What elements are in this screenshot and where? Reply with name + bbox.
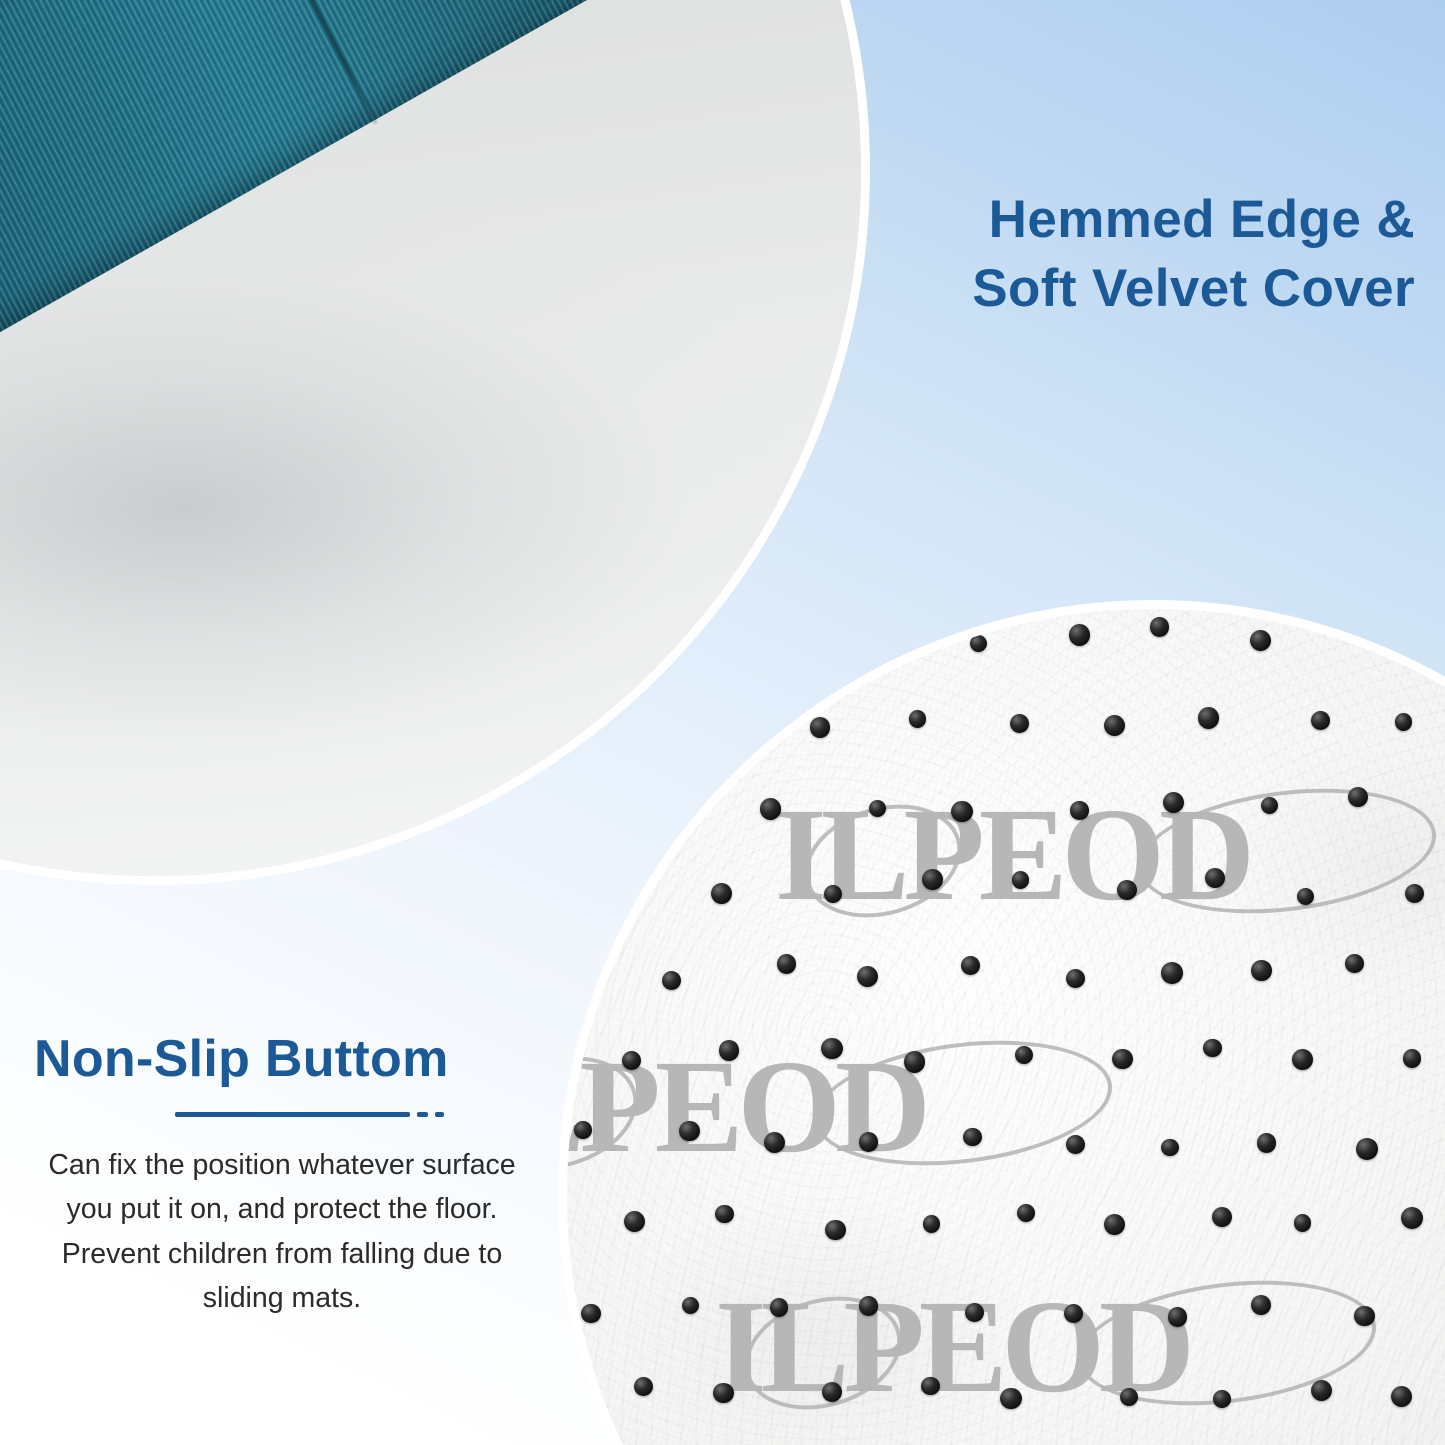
anti-slip-dot xyxy=(1345,954,1364,973)
anti-slip-dot xyxy=(1117,880,1137,900)
anti-slip-dot xyxy=(1168,1307,1187,1326)
divider-dash xyxy=(435,1112,444,1117)
anti-slip-dot xyxy=(581,1304,600,1323)
anti-slip-dot xyxy=(682,1297,699,1314)
anti-slip-dot xyxy=(1205,868,1225,888)
anti-slip-dot xyxy=(1250,630,1271,651)
anti-slip-dot xyxy=(760,798,781,819)
anti-slip-dot xyxy=(951,801,972,822)
anti-slip-dot xyxy=(1311,711,1330,730)
anti-slip-dot xyxy=(1161,962,1183,984)
anti-slip-dot xyxy=(1311,1380,1332,1401)
anti-slip-dot xyxy=(1070,801,1088,819)
anti-slip-dot xyxy=(859,1296,879,1316)
anti-slip-dot-grid xyxy=(567,609,1445,1445)
anti-slip-dot xyxy=(764,1132,785,1153)
anti-slip-dot xyxy=(810,717,831,738)
anti-slip-dot xyxy=(719,1040,740,1061)
anti-slip-dot xyxy=(1212,1207,1232,1227)
anti-slip-dot xyxy=(1395,713,1413,731)
anti-slip-dot xyxy=(1401,1207,1423,1229)
anti-slip-dot xyxy=(922,869,943,890)
anti-slip-dot xyxy=(921,1377,940,1396)
anti-slip-dot xyxy=(1251,960,1272,981)
anti-slip-dot xyxy=(904,1051,925,1072)
anti-slip-dot xyxy=(963,1128,981,1146)
anti-slip-dot xyxy=(825,1220,846,1241)
feature-body-text: Can fix the position whatever surface yo… xyxy=(26,1143,538,1321)
anti-slip-dot xyxy=(1356,1138,1378,1160)
feature-title: Non-Slip Buttom xyxy=(26,1030,538,1090)
anti-slip-dot xyxy=(961,956,980,975)
anti-slip-dot xyxy=(822,1382,843,1403)
anti-slip-dot xyxy=(1069,624,1090,645)
anti-slip-dot xyxy=(1297,888,1314,905)
anti-slip-dot xyxy=(634,1377,653,1396)
anti-slip-dot xyxy=(1391,1386,1412,1407)
anti-slip-dot xyxy=(869,800,886,817)
anti-slip-dot xyxy=(662,971,681,990)
anti-slip-dot xyxy=(715,1205,733,1223)
anti-slip-dot xyxy=(1104,715,1125,736)
anti-slip-dot xyxy=(1213,1390,1231,1408)
anti-slip-dot xyxy=(777,954,796,973)
anti-slip-dot xyxy=(857,966,878,987)
anti-slip-dot xyxy=(1348,787,1368,807)
anti-slip-dot xyxy=(574,1121,592,1139)
headline-hemmed-edge: Hemmed Edge & Soft Velvet Cover xyxy=(775,186,1415,324)
non-slip-mat-photo: ILPEOD ILPEOD ILPEOD xyxy=(558,600,1445,1445)
anti-slip-dot xyxy=(970,635,987,652)
anti-slip-dot xyxy=(1257,1133,1277,1153)
anti-slip-dot xyxy=(1354,1306,1374,1326)
title-divider xyxy=(80,1112,538,1117)
anti-slip-dot xyxy=(711,883,732,904)
anti-slip-dot xyxy=(1292,1049,1313,1070)
anti-slip-dot xyxy=(1015,1046,1033,1064)
anti-slip-dot xyxy=(1112,1049,1132,1069)
anti-slip-dot xyxy=(1150,617,1169,636)
headline-line-2: Soft Velvet Cover xyxy=(775,255,1415,324)
anti-slip-dot xyxy=(770,1298,788,1316)
anti-slip-dot xyxy=(1198,707,1219,728)
anti-slip-dot xyxy=(679,1121,700,1142)
anti-slip-dot xyxy=(1120,1388,1138,1406)
anti-slip-dot xyxy=(1064,1304,1083,1323)
anti-slip-dot xyxy=(1066,969,1085,988)
divider-bar xyxy=(175,1112,410,1117)
feature-block-non-slip: Non-Slip Buttom Can fix the position wha… xyxy=(26,1030,538,1321)
anti-slip-dot xyxy=(1405,884,1424,903)
anti-slip-dot xyxy=(1012,871,1029,888)
anti-slip-dot xyxy=(1163,792,1184,813)
anti-slip-dot xyxy=(1251,1295,1271,1315)
product-feature-canvas: ILPEOD ILPEOD ILPEOD Hemmed Edge & Soft … xyxy=(0,0,1445,1445)
anti-slip-dot xyxy=(1066,1135,1085,1154)
headline-line-1: Hemmed Edge & xyxy=(775,186,1415,255)
anti-slip-dot xyxy=(1104,1214,1125,1235)
anti-slip-dot xyxy=(1161,1139,1178,1156)
anti-slip-dot xyxy=(1403,1049,1421,1067)
anti-slip-dot xyxy=(1261,797,1278,814)
anti-slip-dot xyxy=(909,710,926,727)
anti-slip-dot xyxy=(859,1132,879,1152)
anti-slip-dot xyxy=(824,885,843,904)
anti-slip-dot xyxy=(965,1303,984,1322)
anti-slip-dot xyxy=(624,1211,646,1233)
anti-slip-dot xyxy=(1000,1388,1021,1409)
anti-slip-dot xyxy=(1010,714,1029,733)
anti-slip-dot xyxy=(821,1038,842,1059)
anti-slip-dot xyxy=(923,1215,941,1233)
anti-slip-dot xyxy=(713,1383,733,1403)
anti-slip-dot xyxy=(1294,1214,1311,1231)
divider-dash xyxy=(417,1112,428,1117)
anti-slip-dot xyxy=(622,1051,641,1070)
anti-slip-dot xyxy=(1017,1204,1035,1222)
anti-slip-dot xyxy=(1203,1039,1221,1057)
